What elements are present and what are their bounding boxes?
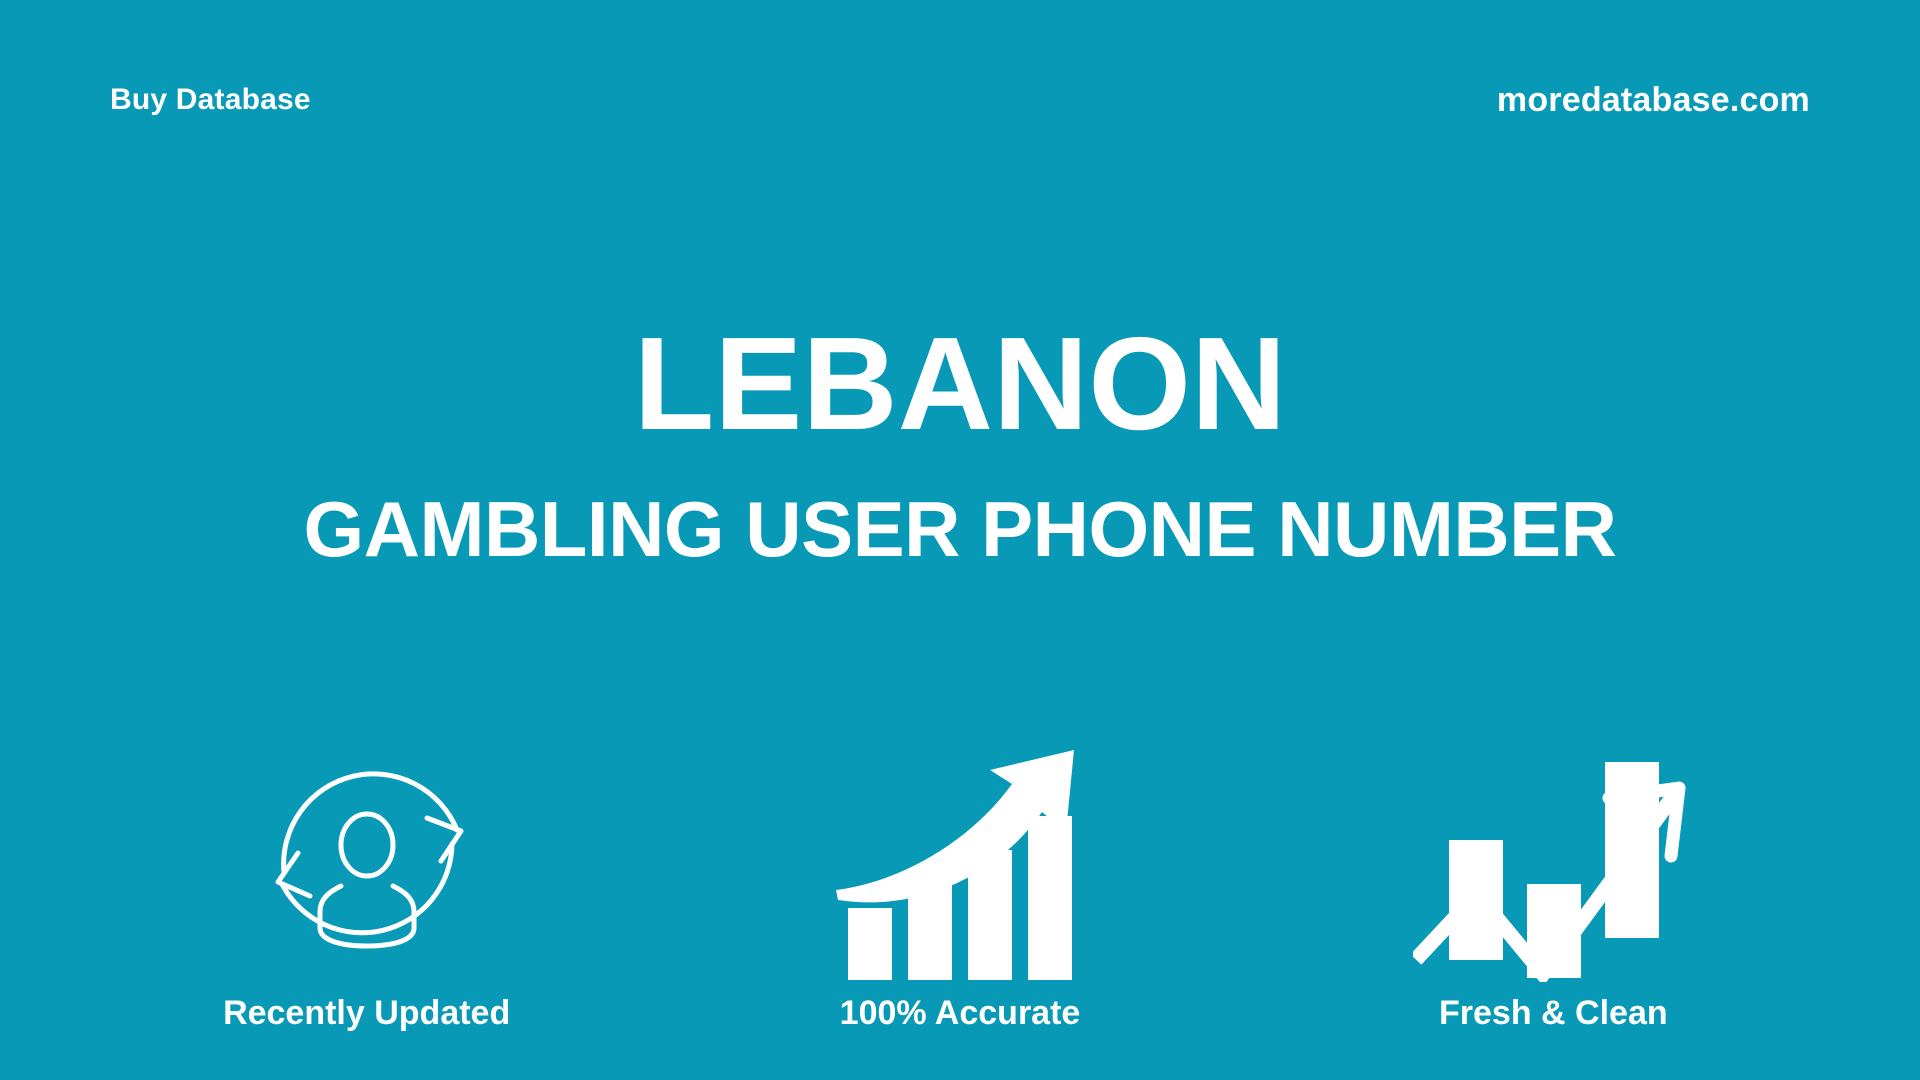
recycle-person-icon — [242, 732, 492, 982]
feature-icon-slot — [1413, 732, 1693, 982]
feature-label: Fresh & Clean — [1439, 996, 1668, 1030]
bar-chart-zigzag-arrow-icon — [1413, 732, 1693, 982]
website-domain-label: moredatabase.com — [1497, 83, 1810, 117]
feature-icon-slot — [242, 732, 492, 982]
feature-list: Recently Updated 100% Accurate — [0, 690, 1920, 1030]
feature-icon-slot — [830, 732, 1090, 982]
feature-item: 100% Accurate — [725, 732, 1195, 1030]
feature-item: Recently Updated — [132, 732, 602, 1030]
growth-bar-chart-icon — [830, 732, 1090, 982]
page-subtitle: GAMBLING USER PHONE NUMBER — [0, 490, 1920, 568]
feature-label: Recently Updated — [223, 996, 510, 1030]
feature-label: 100% Accurate — [840, 996, 1081, 1030]
banner-header: Buy Database moredatabase.com — [0, 0, 1920, 200]
title-block: LEBANON GAMBLING USER PHONE NUMBER — [0, 318, 1920, 568]
buy-database-label: Buy Database — [110, 85, 311, 115]
feature-item: Fresh & Clean — [1318, 732, 1788, 1030]
page-title: LEBANON — [0, 318, 1920, 450]
promo-banner: Buy Database moredatabase.com LEBANON GA… — [0, 0, 1920, 1080]
